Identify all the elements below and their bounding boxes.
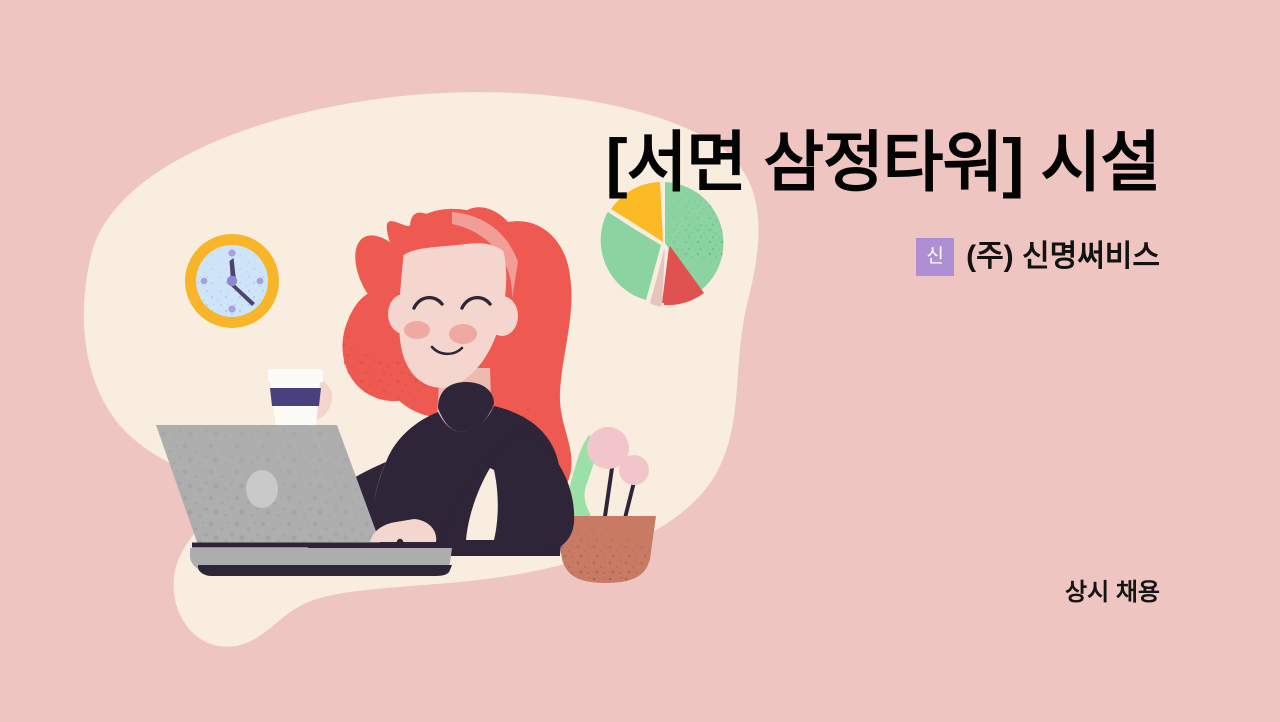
company-logo-badge: 신: [916, 238, 954, 276]
flower-head-small: [619, 455, 649, 485]
company-row[interactable]: 신 (주) 신명써비스: [400, 238, 1160, 276]
cup-lid: [268, 369, 323, 383]
job-text-block: [서면 삼정타워] 시설 신 (주) 신명써비스: [400, 128, 1160, 276]
trackpad-dot: [397, 539, 403, 545]
company-name[interactable]: (주) 신명써비스: [966, 242, 1160, 272]
wall-clock-illustration: [185, 234, 279, 328]
blush-left: [404, 321, 430, 339]
blush-right: [449, 324, 477, 344]
clock-center-pin: [227, 276, 237, 286]
page-title: [서면 삼정타워] 시설: [400, 128, 1160, 198]
laptop-base-shadow: [198, 565, 452, 576]
clock-hour-mark-6: [228, 305, 235, 312]
ear-right: [486, 296, 518, 336]
laptop-logo: [246, 470, 278, 508]
cup-band-upper: [270, 388, 321, 406]
illustration-artwork: [0, 0, 1280, 722]
job-recruitment-banner: [서면 삼정타워] 시설 신 (주) 신명써비스 상시 채용: [0, 0, 1280, 722]
clock-hour-mark-3: [257, 278, 264, 285]
clock-hour-mark-9: [201, 278, 208, 285]
recruit-status-badge: 상시 채용: [1065, 572, 1160, 607]
clock-hour-mark-12: [228, 249, 235, 256]
